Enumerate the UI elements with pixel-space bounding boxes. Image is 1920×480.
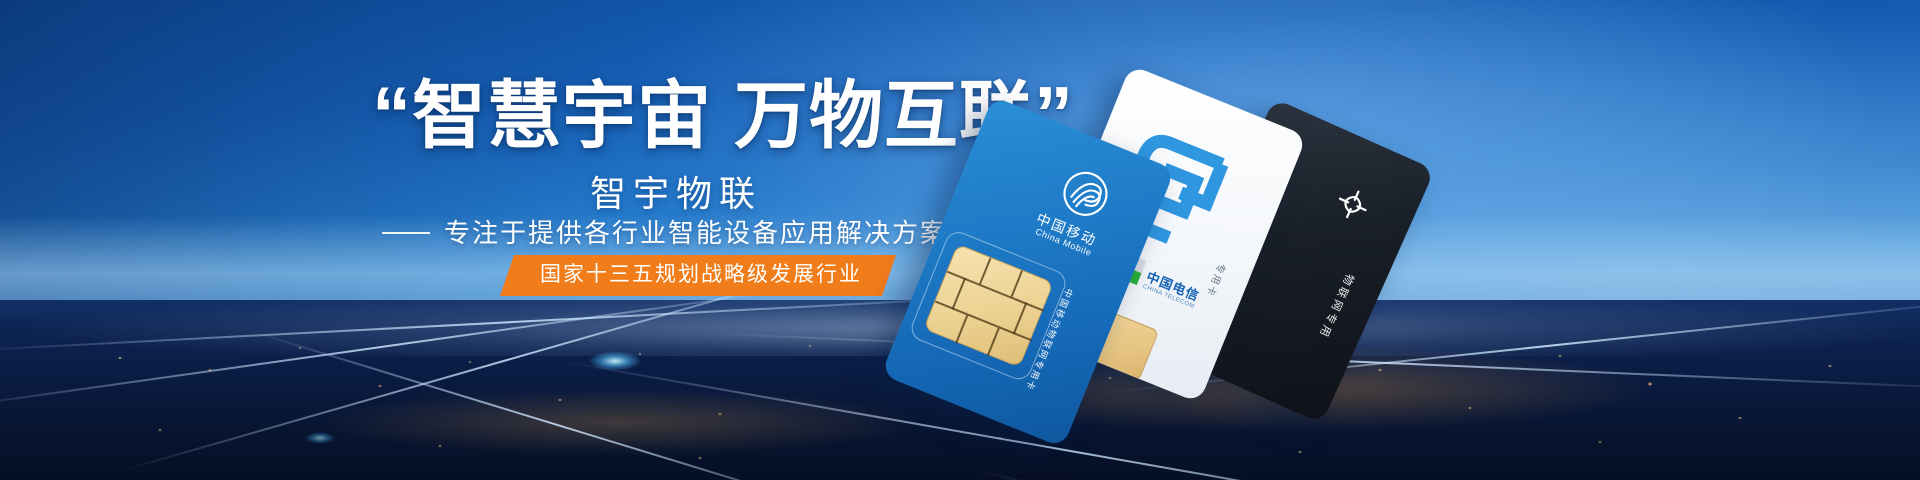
hero-banner: “智慧宇宙万物互联” 智宇物联 专注于提供各行业智能设备应用解决方案 国家十三五…	[0, 0, 1920, 480]
sim-card-group: China Unicom 物联网专用	[920, 70, 1560, 400]
china-unicom-logo	[1330, 182, 1375, 227]
china-telecom-side-text: 专用卡	[1203, 261, 1230, 300]
status-badge: 国家十三五规划战略级发展行业	[500, 255, 896, 296]
tagline-row: 专注于提供各行业智能设备应用解决方案	[382, 216, 1002, 250]
open-quote: “	[372, 70, 412, 158]
headline-part-a: 智慧宇宙	[412, 74, 712, 157]
badge-wrapper: 国家十三五规划战略级发展行业	[500, 255, 896, 296]
tagline-text: 专注于提供各行业智能设备应用解决方案	[444, 216, 948, 250]
rule-left	[382, 232, 430, 234]
china-unicom-side-text: 物联网专用	[1315, 271, 1358, 341]
